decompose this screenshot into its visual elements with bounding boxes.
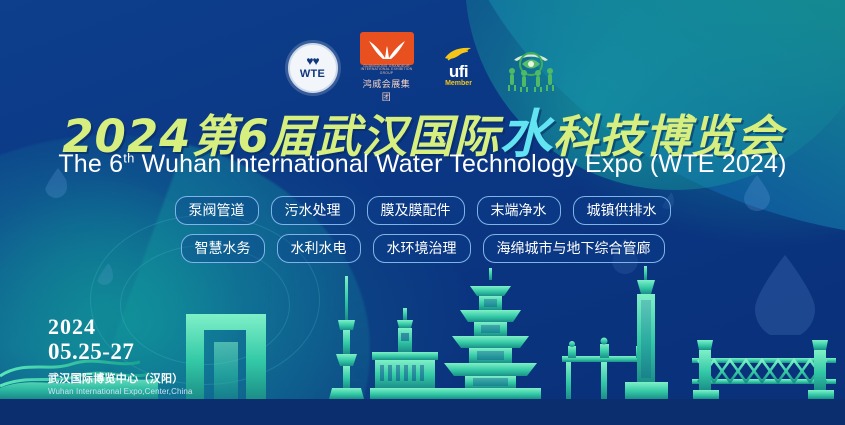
english-title-ordinal: th [123, 151, 134, 166]
wte-logo: ♥♥ WTE [288, 43, 338, 93]
green-emblem-logo [504, 44, 558, 92]
expo-banner: ♥♥ WTE GUANGDONG GRANDEUR INTERNATIONAL … [0, 0, 845, 425]
category-pill-sewage-treatment[interactable]: 污水处理 [271, 196, 355, 225]
category-pill-sponge-city-utility-tunnel[interactable]: 海绵城市与地下综合管廊 [483, 234, 665, 263]
landmark-yellow-crane-tower [440, 268, 541, 399]
category-pill-hydropower[interactable]: 水利水电 [277, 234, 361, 263]
ufi-logo-text: ufi [449, 63, 468, 80]
category-pill-urban-water-supply-drainage[interactable]: 城镇供排水 [573, 196, 671, 225]
ufi-member-text: Member [445, 80, 472, 88]
ufi-member-logo: ufi Member [436, 47, 482, 88]
event-details: 2024 05.25-27 武汉国际博览中心（汉阳） Wuhan Interna… [48, 315, 193, 396]
landmark-qintai-theatre [186, 314, 266, 399]
green-emblem-icon [504, 44, 558, 92]
venue-name-cn: 武汉国际博览中心（汉阳） [48, 370, 193, 386]
category-pill-water-environment-governance[interactable]: 水环境治理 [373, 234, 471, 263]
category-pill-point-of-use-purification[interactable]: 末端净水 [477, 196, 561, 225]
english-title: The 6th Wuhan International Water Techno… [0, 150, 845, 179]
wte-hearts-icon: ♥♥ [306, 55, 318, 67]
landmark-jianghan-customs-house [370, 308, 440, 399]
landmark-wuhan-center-tower [625, 266, 668, 399]
landmark-yangtze-river-bridge [692, 340, 836, 399]
pill-row-2: 智慧水务 水利水电 水环境治理 海绵城市与地下综合管廊 [0, 234, 845, 263]
english-title-rest: Wuhan International Water Technology Exp… [135, 150, 787, 178]
category-pill-smart-water[interactable]: 智慧水务 [181, 234, 265, 263]
ufi-bird-icon [444, 47, 474, 63]
landmark-guishan-tv-tower [329, 276, 364, 399]
pill-row-1: 泵阀管道 污水处理 膜及膜配件 末端净水 城镇供排水 [0, 196, 845, 225]
english-title-prefix: The 6 [58, 150, 123, 178]
venue-name-en: Wuhan International Expo,Center,China [48, 387, 193, 396]
bottom-bar [0, 399, 845, 425]
hongwei-eagle-icon [367, 38, 407, 60]
event-year: 2024 [48, 315, 193, 339]
category-pill-group: 泵阀管道 污水处理 膜及膜配件 末端净水 城镇供排水 智慧水务 水利水电 水环境… [0, 196, 845, 272]
hongwei-logo-en: GUANGDONG GRANDEUR INTERNATIONAL EXHIBIT… [360, 65, 414, 75]
category-pill-membranes[interactable]: 膜及膜配件 [367, 196, 465, 225]
wte-logo-text: WTE [300, 68, 325, 80]
event-dates: 05.25-27 [48, 339, 193, 365]
category-pill-pumps-valves-pipes[interactable]: 泵阀管道 [175, 196, 259, 225]
